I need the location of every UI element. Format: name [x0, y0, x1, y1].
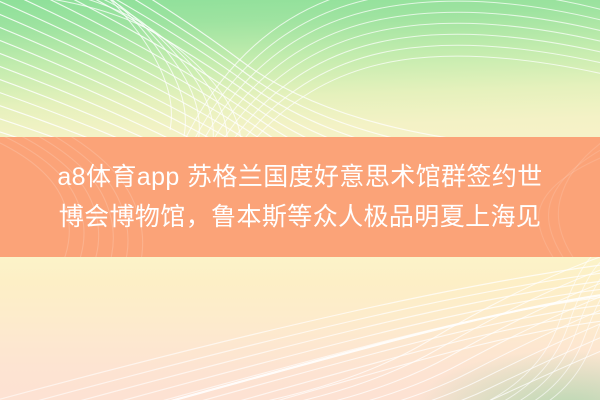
headline-line-2: 博会博物馆，鲁本斯等众人极品明夏上海见 [59, 197, 542, 237]
article-banner-image: a8体育app 苏格兰国度好意思术馆群签约世 博会博物馆，鲁本斯等众人极品明夏上… [0, 0, 600, 400]
bottom-gradient-background [0, 256, 600, 400]
headline-band: a8体育app 苏格兰国度好意思术馆群签约世 博会博物馆，鲁本斯等众人极品明夏上… [0, 137, 600, 257]
top-gradient-background [0, 0, 600, 140]
headline-line-1: a8体育app 苏格兰国度好意思术馆群签约世 [57, 157, 542, 197]
